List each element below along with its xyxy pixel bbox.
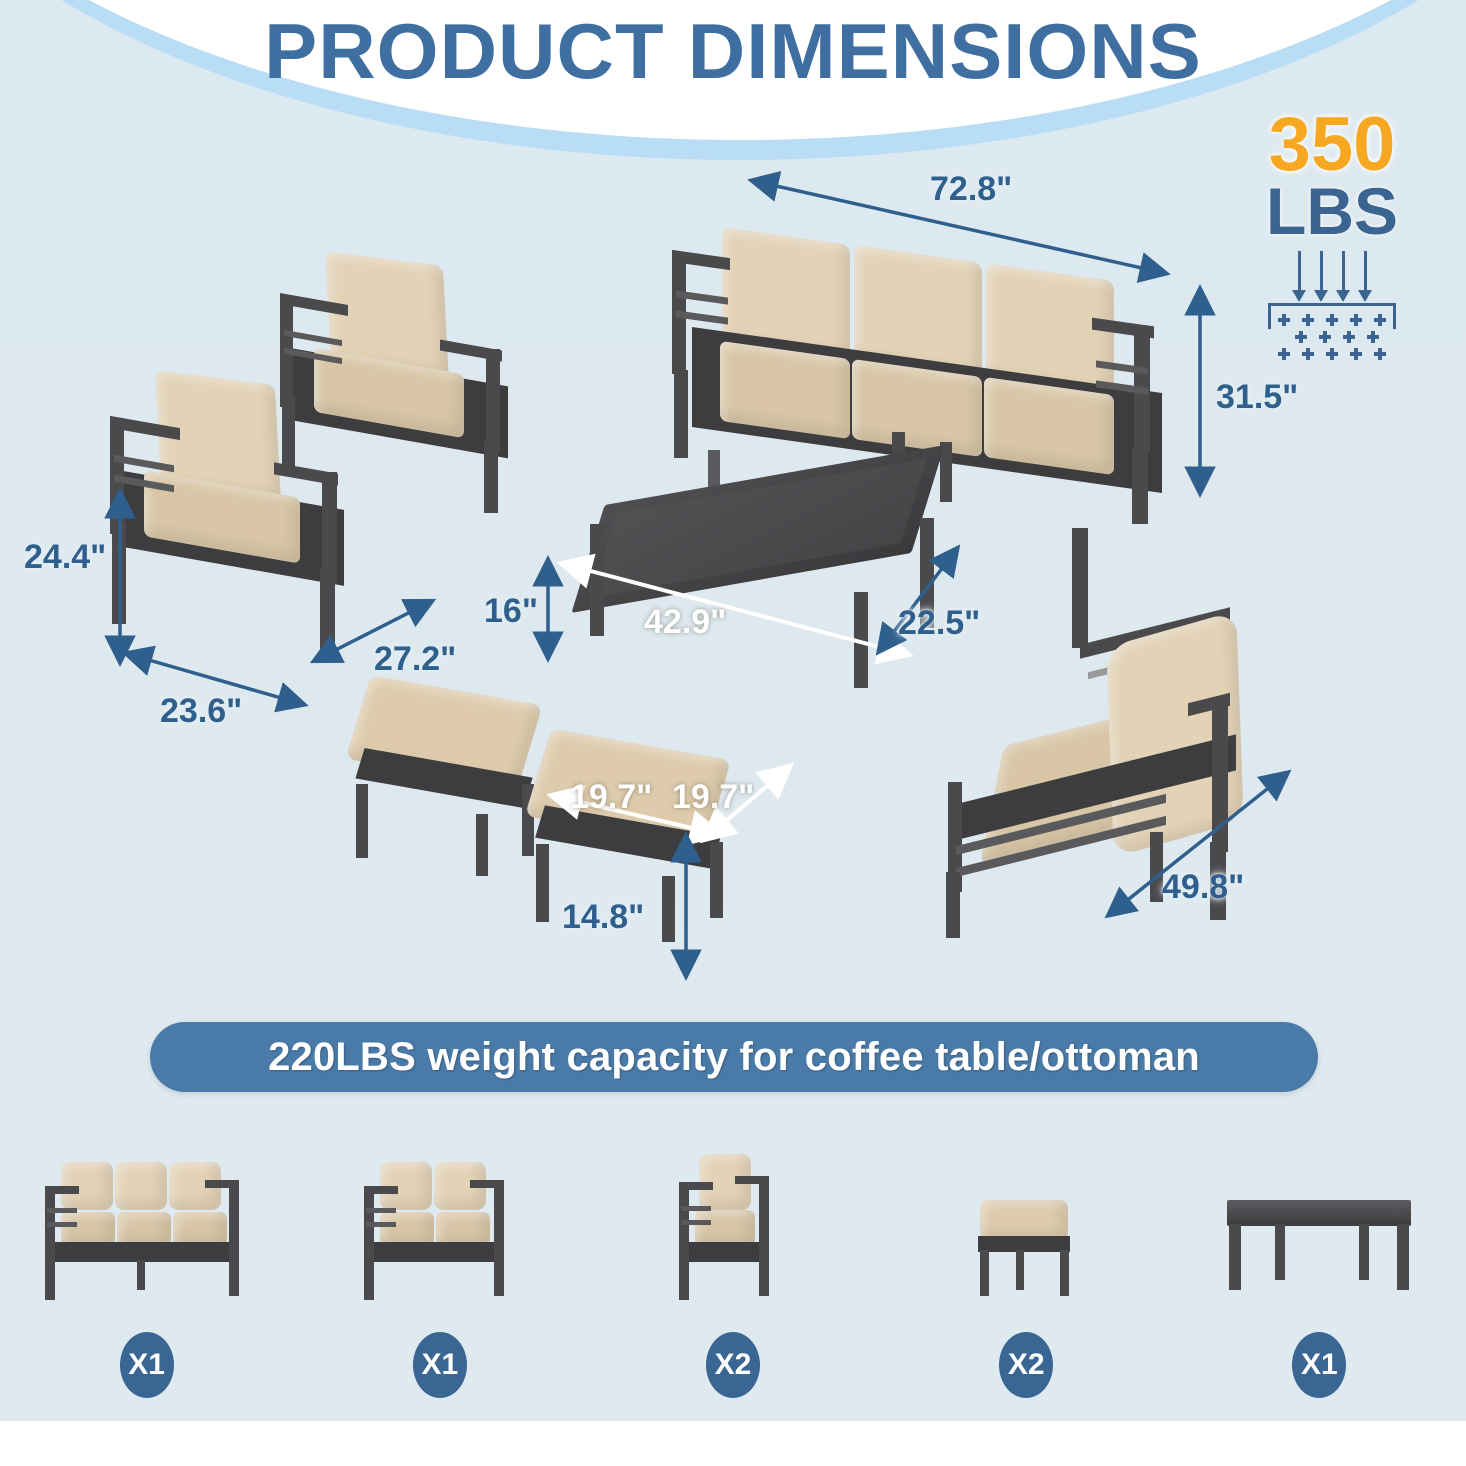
dimension-label: 22.5" xyxy=(898,604,980,643)
plus-pattern-icon xyxy=(1262,314,1402,360)
legend-qty-badge: X1 xyxy=(120,1332,174,1398)
capacity-unit: LBS xyxy=(1232,180,1432,243)
legend-item-loveseat: X1 xyxy=(293,1150,586,1398)
dimension-label: 19.7" xyxy=(570,778,652,817)
dimension-label: 72.8" xyxy=(930,170,1012,209)
legend-item-ottoman: X2 xyxy=(880,1150,1173,1398)
weight-capacity-badge: 350 LBS xyxy=(1232,110,1432,360)
legend-icon-3-seat-sofa xyxy=(17,1150,277,1310)
legend-icon-ottoman xyxy=(896,1150,1156,1310)
dimension-label: 24.4" xyxy=(24,538,106,577)
legend-item-3-seat-sofa: X1 xyxy=(0,1150,293,1398)
down-arrow-icon xyxy=(1342,251,1345,293)
product-dimensions-infographic: PRODUCT DIMENSIONS 350 LBS xyxy=(0,0,1466,1466)
dimension-label: 27.2" xyxy=(374,640,456,679)
dimension-label: 14.8" xyxy=(562,898,644,937)
down-arrow-icon xyxy=(1298,251,1301,293)
dimension-label: 31.5" xyxy=(1216,378,1298,417)
dimension-label: 23.6" xyxy=(160,692,242,731)
legend-icon-loveseat xyxy=(310,1150,570,1310)
dimension-label: 16" xyxy=(484,592,538,631)
legend-qty-badge: X2 xyxy=(706,1332,760,1398)
legend-item-armchair: X2 xyxy=(586,1150,879,1398)
weight-capacity-banner: 220LBS weight capacity for coffee table/… xyxy=(150,1022,1318,1092)
dimension-label: 42.9" xyxy=(644,603,726,642)
piece-count-legend: X1 X1 xyxy=(0,1150,1466,1450)
down-arrow-icon xyxy=(1364,251,1367,293)
load-arrows-group xyxy=(1232,251,1432,293)
dimension-label: 49.8" xyxy=(1162,868,1244,907)
legend-item-coffee-table: X1 xyxy=(1173,1150,1466,1398)
capacity-value: 350 xyxy=(1232,110,1432,180)
legend-qty-badge: X1 xyxy=(1292,1332,1346,1398)
legend-icon-armchair xyxy=(603,1150,863,1310)
legend-qty-badge: X2 xyxy=(999,1332,1053,1398)
legend-qty-badge: X1 xyxy=(413,1332,467,1398)
down-arrow-icon xyxy=(1320,251,1323,293)
dimension-label: 19.7" xyxy=(672,778,754,817)
banner-text: 220LBS weight capacity for coffee table/… xyxy=(268,1035,1200,1080)
page-title: PRODUCT DIMENSIONS xyxy=(0,6,1466,97)
legend-icon-coffee-table xyxy=(1189,1150,1449,1310)
